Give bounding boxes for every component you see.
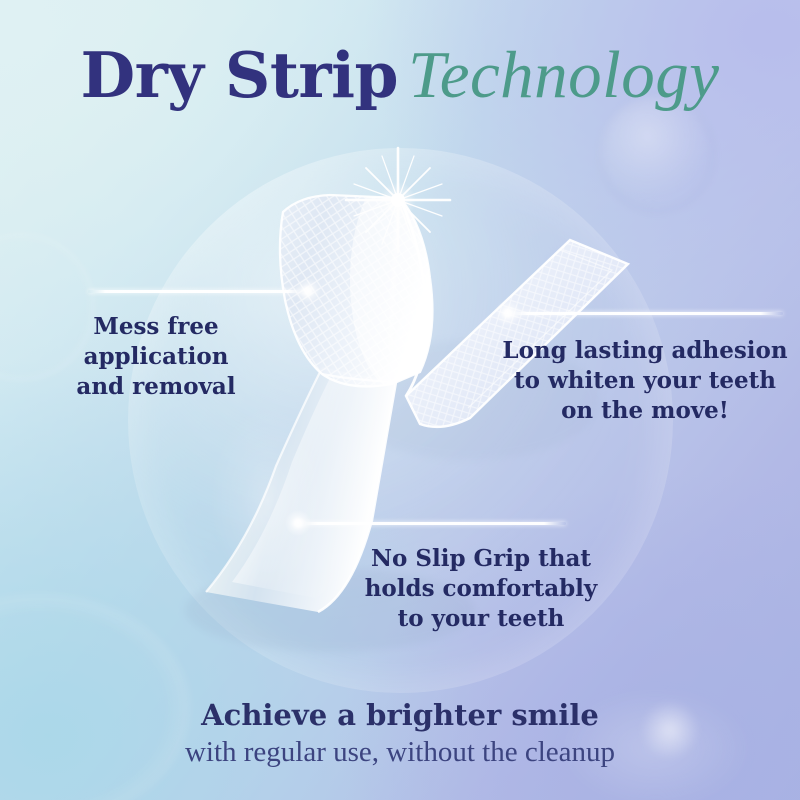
- callout-adhesion-line-3: on the move!: [500, 396, 790, 426]
- sparkle-icon: [346, 148, 450, 350]
- callout-node-right: [495, 300, 521, 326]
- callout-adhesion-line-1: Long lasting adhesion: [500, 336, 790, 366]
- small-bubble-top-right: [598, 96, 716, 214]
- callout-mess-free: Mess free application and removal: [56, 312, 256, 402]
- callout-long-lasting-adhesion: Long lasting adhesion to whiten your tee…: [500, 336, 790, 426]
- callout-line-right: [505, 312, 783, 315]
- callout-grip-line-1: No Slip Grip that: [346, 544, 616, 574]
- callout-grip-line-2: holds comfortably: [346, 574, 616, 604]
- headline-italic-text: Technology: [408, 38, 719, 112]
- tagline-sub-text: with regular use, without the cleanup: [0, 735, 800, 771]
- callout-mess-free-line-1: Mess free: [56, 312, 256, 342]
- callout-node-left: [295, 278, 321, 304]
- callout-line-bottom: [296, 522, 566, 525]
- callout-node-bottom: [285, 510, 311, 536]
- headline-bold-text: Dry Strip: [80, 38, 398, 112]
- poster-headline: Dry StripTechnology: [0, 42, 800, 109]
- tagline-main-text: Achieve a brighter smile: [0, 698, 800, 733]
- callout-mess-free-line-2: application: [56, 342, 256, 372]
- callout-adhesion-line-2: to whiten your teeth: [500, 366, 790, 396]
- callout-no-slip-grip: No Slip Grip that holds comfortably to y…: [346, 544, 616, 634]
- product-infographic-poster: Dry StripTechnology: [0, 0, 800, 800]
- callout-grip-line-3: to your teeth: [346, 604, 616, 634]
- callout-line-left: [88, 290, 306, 293]
- callout-mess-free-line-3: and removal: [56, 372, 256, 402]
- poster-tagline: Achieve a brighter smile with regular us…: [0, 698, 800, 771]
